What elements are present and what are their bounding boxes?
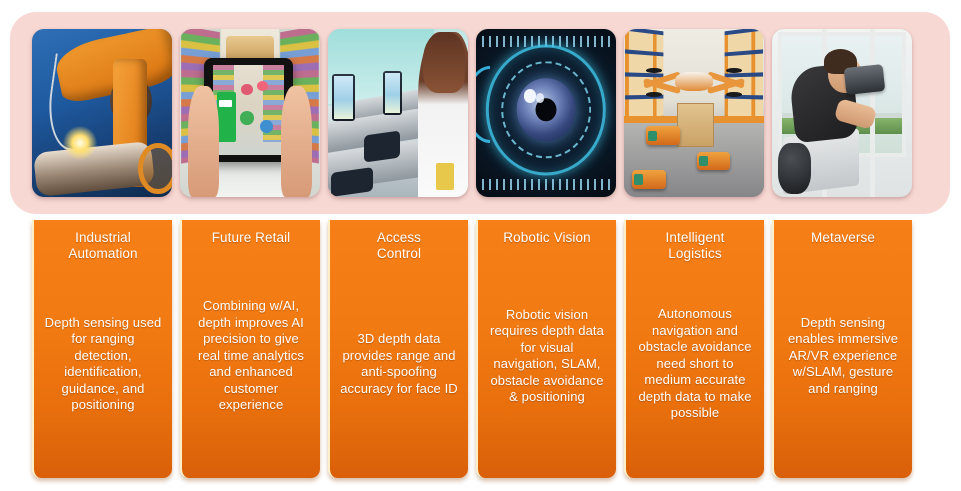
card-body-access-control: 3D depth data provides range and anti-sp… [337, 331, 461, 397]
ar-marker-4 [260, 120, 273, 133]
hud-bar-bottom [482, 179, 611, 191]
photo-cell-future-retail [180, 29, 320, 197]
face-scanner-kiosk-1 [332, 74, 354, 121]
face-scanner-kiosk-2 [383, 71, 403, 115]
card-title-access-control: AccessControl [377, 230, 421, 262]
gate-reader-1 [364, 131, 400, 163]
delivery-drone [646, 63, 741, 100]
ar-marker-2 [257, 81, 268, 91]
photo-cell-robotic-vision [476, 29, 616, 197]
photo-cell-intelligent-logistics [624, 29, 764, 197]
card-body-intelligent-logistics: Autonomous navigation and obstacle avoid… [633, 306, 757, 422]
photo-cell-industrial-automation [32, 29, 172, 197]
card-intelligent-logistics[interactable]: IntelligentLogistics Autonomous navigati… [624, 220, 764, 478]
positioner-wheel [138, 143, 172, 193]
vr-controller [778, 143, 812, 193]
ar-price-tag [217, 92, 236, 142]
photo-cell-access-control [328, 29, 468, 197]
card-body-future-retail: Combining w/AI, depth improves AI precis… [189, 298, 313, 414]
card-title-industrial-automation: IndustrialAutomation [68, 230, 137, 262]
photo-row [10, 12, 950, 214]
drone-rotor-3 [646, 92, 661, 97]
card-title-metaverse: Metaverse [811, 230, 875, 246]
industrial-welding-robot-photo [32, 29, 172, 197]
card-row: IndustrialAutomation Depth sensing used … [10, 220, 950, 478]
eye-pupil [536, 98, 557, 122]
card-body-robotic-vision: Robotic vision requires depth data for v… [485, 307, 609, 406]
traveler-hair [423, 32, 465, 92]
drone-rotor-2 [726, 68, 741, 73]
vr-headset-user-photo [772, 29, 912, 197]
gate-reader-2 [331, 167, 373, 196]
card-body-industrial-automation: Depth sensing used for ranging detection… [41, 315, 165, 414]
agv-robot-2 [697, 152, 731, 170]
photo-cell-metaverse [772, 29, 912, 197]
face-recognition-gate-photo [328, 29, 468, 197]
hand-left [188, 86, 219, 197]
tablet-screen [213, 65, 285, 155]
kiosk-screen-2 [385, 73, 401, 113]
card-body-metaverse: Depth sensing enables immersive AR/VR ex… [781, 315, 905, 398]
eye-highlight [524, 89, 537, 102]
agv-robot-3 [632, 170, 666, 188]
card-title-intelligent-logistics: IntelligentLogistics [666, 230, 725, 262]
infographic-root: IndustrialAutomation Depth sensing used … [0, 0, 961, 491]
drone-rotor-1 [646, 68, 661, 73]
card-access-control[interactable]: AccessControl 3D depth data provides ran… [328, 220, 468, 478]
drone-rotor-4 [726, 92, 741, 97]
ar-marker-3 [240, 111, 254, 125]
hand-right [281, 86, 312, 197]
robotic-eye-scan-photo [476, 29, 616, 197]
boarding-pass [436, 163, 454, 190]
card-robotic-vision[interactable]: Robotic Vision Robotic vision requires d… [476, 220, 616, 478]
drone-body [675, 72, 713, 91]
weld-spark [63, 126, 97, 160]
card-industrial-automation[interactable]: IndustrialAutomation Depth sensing used … [32, 220, 172, 478]
card-metaverse[interactable]: Metaverse Depth sensing enables immersiv… [772, 220, 912, 478]
vr-headset [843, 64, 885, 95]
warehouse-drone-agv-photo [624, 29, 764, 197]
store-floor [214, 160, 287, 197]
retail-ar-tablet-photo [180, 29, 320, 197]
card-title-robotic-vision: Robotic Vision [503, 230, 590, 246]
card-title-future-retail: Future Retail [212, 230, 291, 246]
card-future-retail[interactable]: Future Retail Combining w/AI, depth impr… [180, 220, 320, 478]
ar-marker-1 [241, 84, 252, 95]
cardboard-package [677, 103, 713, 147]
agv-robot-1 [646, 126, 680, 144]
kiosk-screen-1 [334, 76, 352, 119]
